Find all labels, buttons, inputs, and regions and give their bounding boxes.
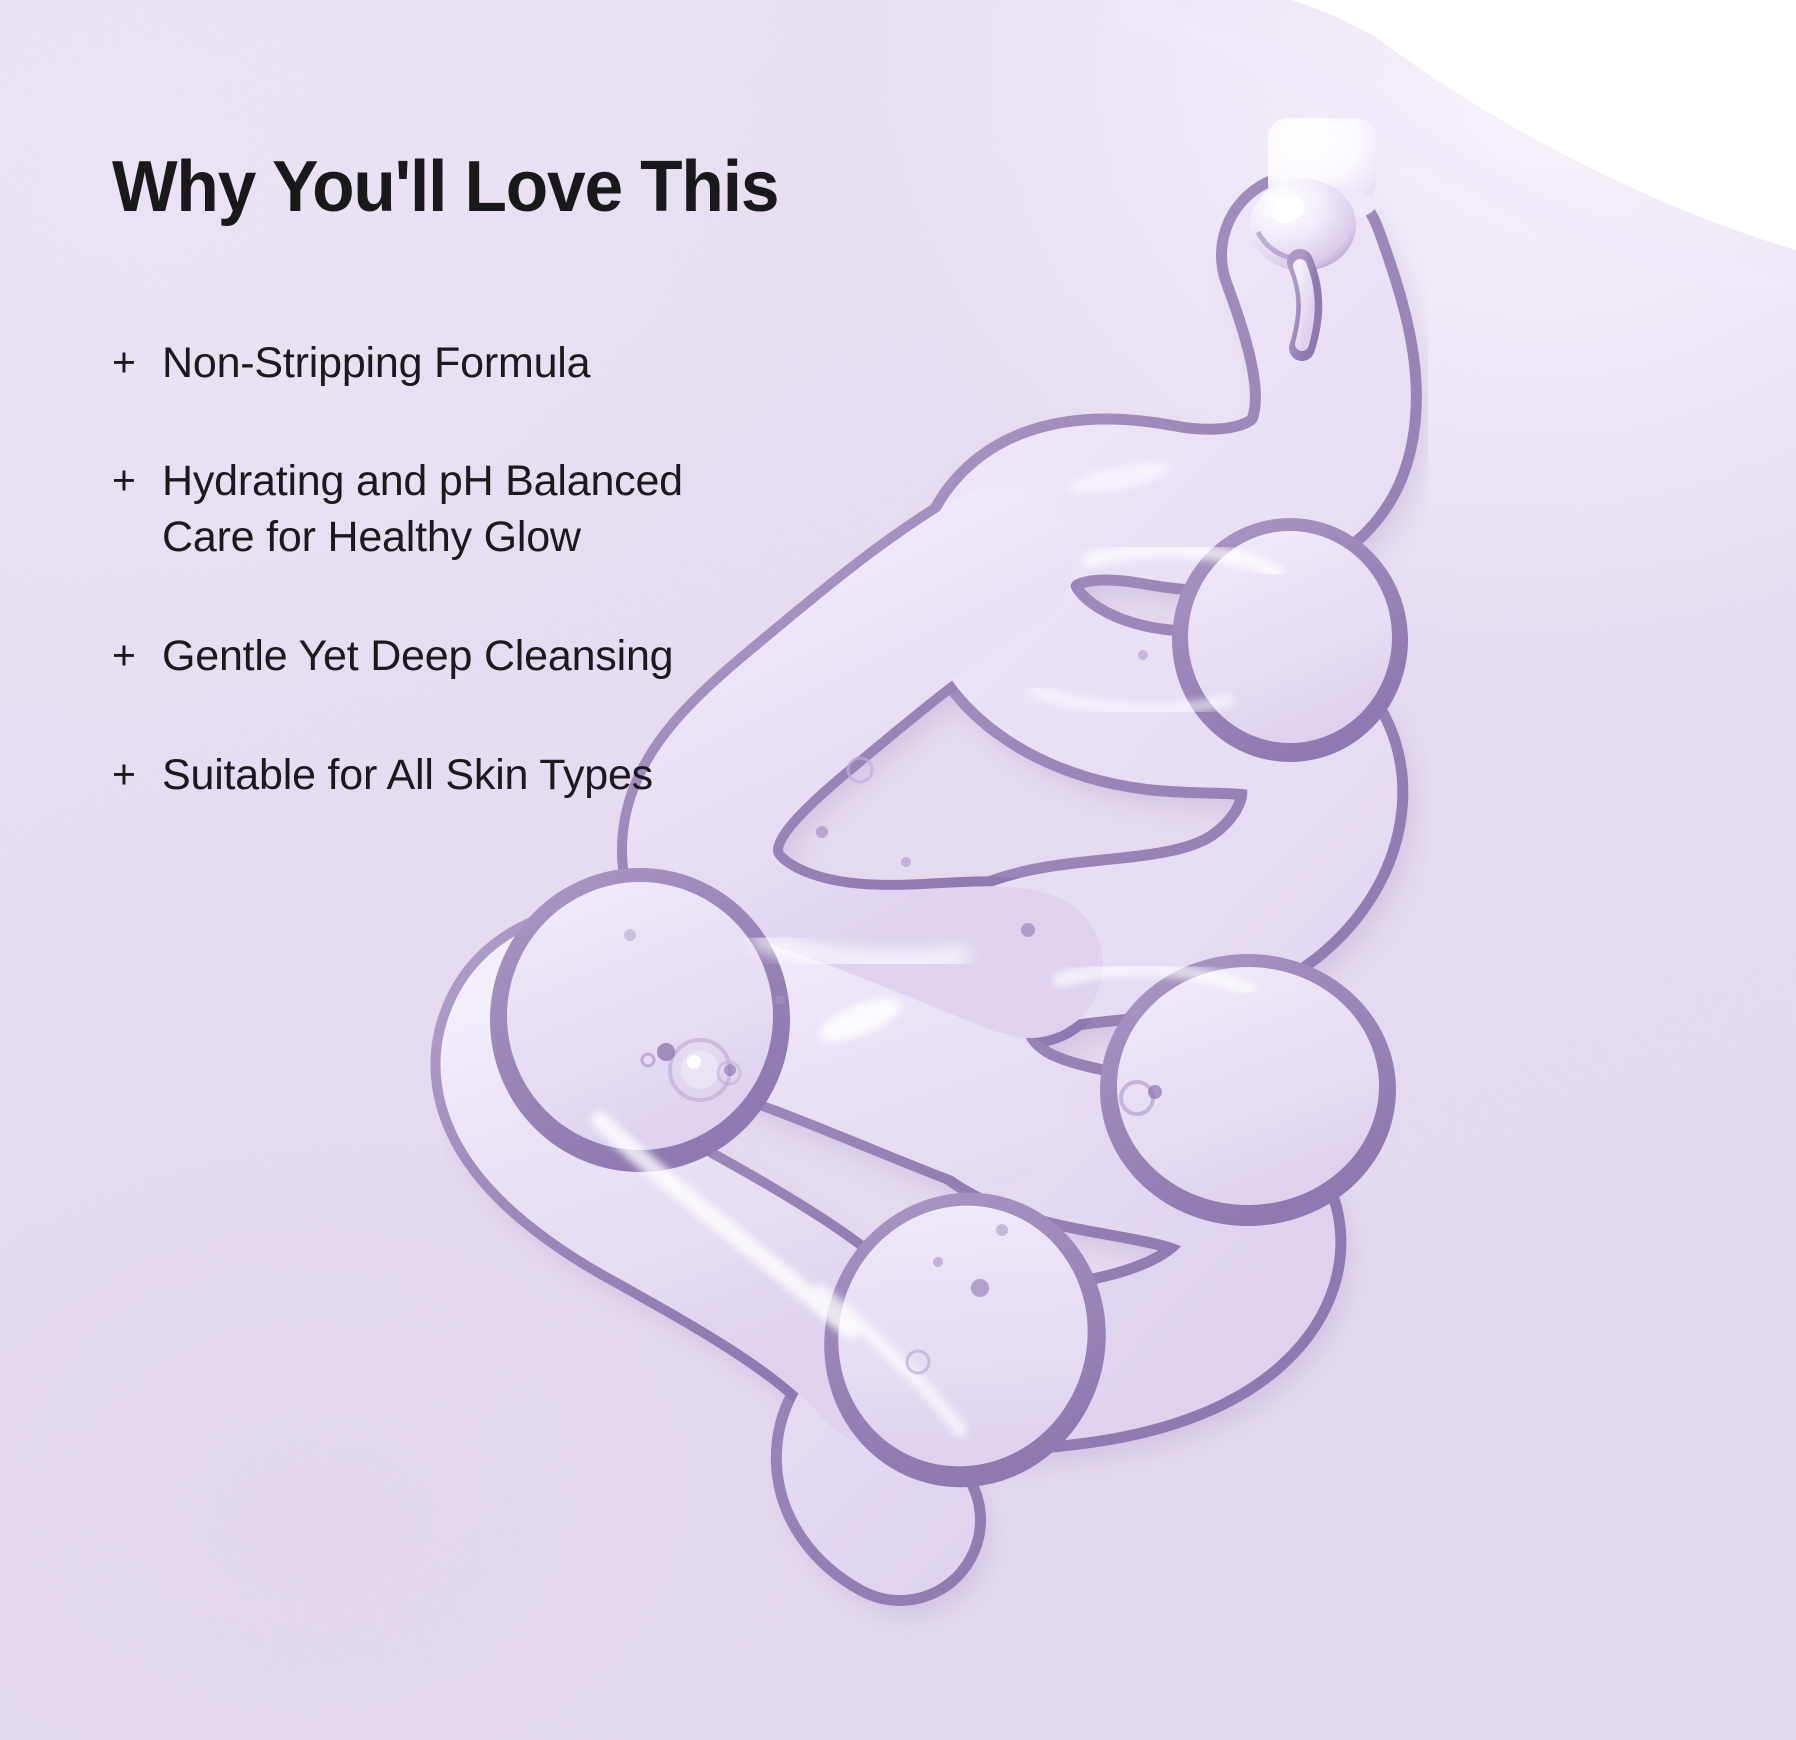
benefit-line-2: Care for Healthy Glow (162, 510, 1012, 566)
benefit-item-all-skin-types: + Suitable for All Skin Types (112, 748, 1012, 804)
page-title: Why You'll Love This (112, 150, 981, 226)
benefit-line-1: Suitable for All Skin Types (162, 751, 653, 799)
benefit-text: Suitable for All Skin Types (162, 748, 1012, 804)
copy-block: Why You'll Love This + Non-Stripping For… (112, 150, 1012, 804)
plus-icon: + (112, 629, 162, 682)
benefit-line-1: Hydrating and pH Balanced (162, 457, 683, 505)
benefit-line-1: Non-Stripping Formula (162, 339, 590, 387)
benefit-item-hydrating-ph-balanced: + Hydrating and pH Balanced Care for Hea… (112, 454, 1012, 566)
benefits-list: + Non-Stripping Formula + Hydrating and … (112, 336, 1012, 804)
benefit-item-gentle-deep-cleansing: + Gentle Yet Deep Cleansing (112, 629, 1012, 685)
plus-icon: + (112, 454, 162, 507)
benefit-text: Gentle Yet Deep Cleansing (162, 629, 1012, 685)
plus-icon: + (112, 748, 162, 801)
benefit-text: Hydrating and pH Balanced Care for Healt… (162, 454, 1012, 566)
benefit-line-1: Gentle Yet Deep Cleansing (162, 632, 673, 680)
benefit-text: Non-Stripping Formula (162, 336, 1012, 392)
plus-icon: + (112, 336, 162, 389)
benefit-item-non-stripping: + Non-Stripping Formula (112, 336, 1012, 392)
